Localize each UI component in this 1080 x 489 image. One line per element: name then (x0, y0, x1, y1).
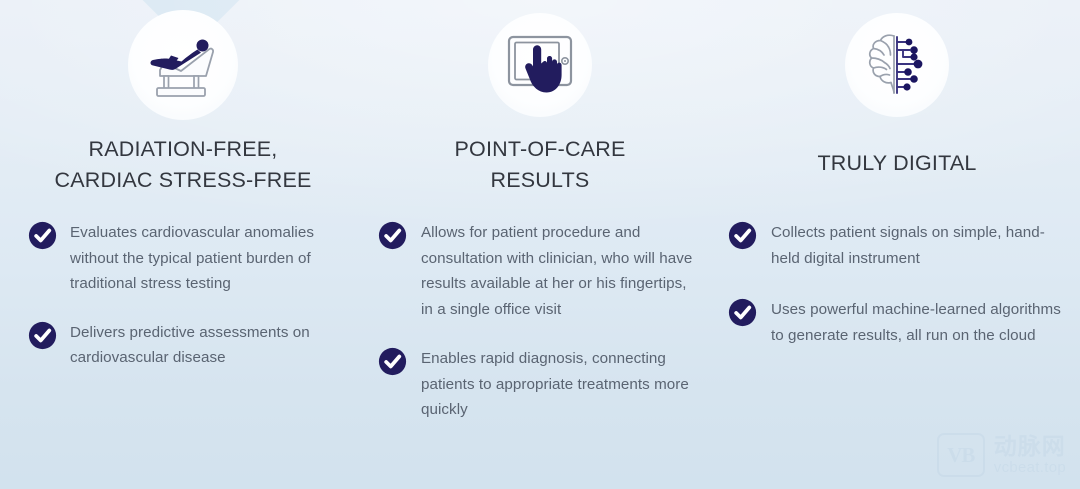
brain-circuit-ai-icon (861, 31, 933, 99)
list-item: Delivers predictive assessments on cardi… (28, 320, 338, 371)
list-item-text: Evaluates cardiovascular anomalies witho… (70, 220, 338, 297)
list-item: Enables rapid diagnosis, connecting pati… (378, 346, 702, 423)
feature-columns: RADIATION-FREE, CARDIAC STRESS-FREE Eval… (0, 0, 1080, 489)
heading-line: TRULY DIGITAL (728, 148, 1066, 179)
icon-circle-2 (488, 13, 592, 117)
bullet-list-3: Collects patient signals on simple, hand… (728, 200, 1066, 348)
check-circle-icon (28, 221, 57, 250)
icon-circle-1 (128, 10, 238, 120)
check-circle-icon (728, 298, 757, 327)
list-item-text: Collects patient signals on simple, hand… (771, 220, 1066, 271)
heading-line: POINT-OF-CARE (378, 134, 702, 165)
tablet-touch-hand-icon (503, 32, 577, 98)
list-item: Allows for patient procedure and consult… (378, 220, 702, 322)
column-heading-1: RADIATION-FREE, CARDIAC STRESS-FREE (28, 126, 338, 200)
heading-line: CARDIAC STRESS-FREE (28, 165, 338, 196)
feature-column-point-of-care: POINT-OF-CARE RESULTS Allows for patient… (360, 0, 720, 489)
column-heading-3: TRULY DIGITAL (728, 126, 1066, 200)
bullet-list-2: Allows for patient procedure and consult… (378, 200, 702, 423)
feature-column-truly-digital: TRULY DIGITAL Collects patient signals o… (720, 0, 1080, 489)
check-circle-icon (378, 221, 407, 250)
list-item: Evaluates cardiovascular anomalies witho… (28, 220, 338, 297)
list-item: Uses powerful machine-learned algorithms… (728, 297, 1066, 348)
check-circle-icon (378, 347, 407, 376)
heading-line: RADIATION-FREE, (28, 134, 338, 165)
column-heading-2: POINT-OF-CARE RESULTS (378, 126, 702, 200)
heading-line: RESULTS (378, 165, 702, 196)
bullet-list-1: Evaluates cardiovascular anomalies witho… (28, 200, 338, 371)
list-item: Collects patient signals on simple, hand… (728, 220, 1066, 271)
feature-column-radiation-free: RADIATION-FREE, CARDIAC STRESS-FREE Eval… (0, 0, 360, 489)
slide-canvas: RADIATION-FREE, CARDIAC STRESS-FREE Eval… (0, 0, 1080, 489)
list-item-text: Delivers predictive assessments on cardi… (70, 320, 338, 371)
icon-container-3 (728, 0, 1066, 126)
check-circle-icon (728, 221, 757, 250)
check-circle-icon (28, 321, 57, 350)
icon-container-2 (378, 0, 702, 126)
icon-circle-3 (845, 13, 949, 117)
reclining-patient-exam-chair-icon (140, 30, 226, 100)
list-item-text: Uses powerful machine-learned algorithms… (771, 297, 1066, 348)
icon-container-1 (28, 0, 338, 126)
list-item-text: Allows for patient procedure and consult… (421, 220, 702, 322)
list-item-text: Enables rapid diagnosis, connecting pati… (421, 346, 702, 423)
